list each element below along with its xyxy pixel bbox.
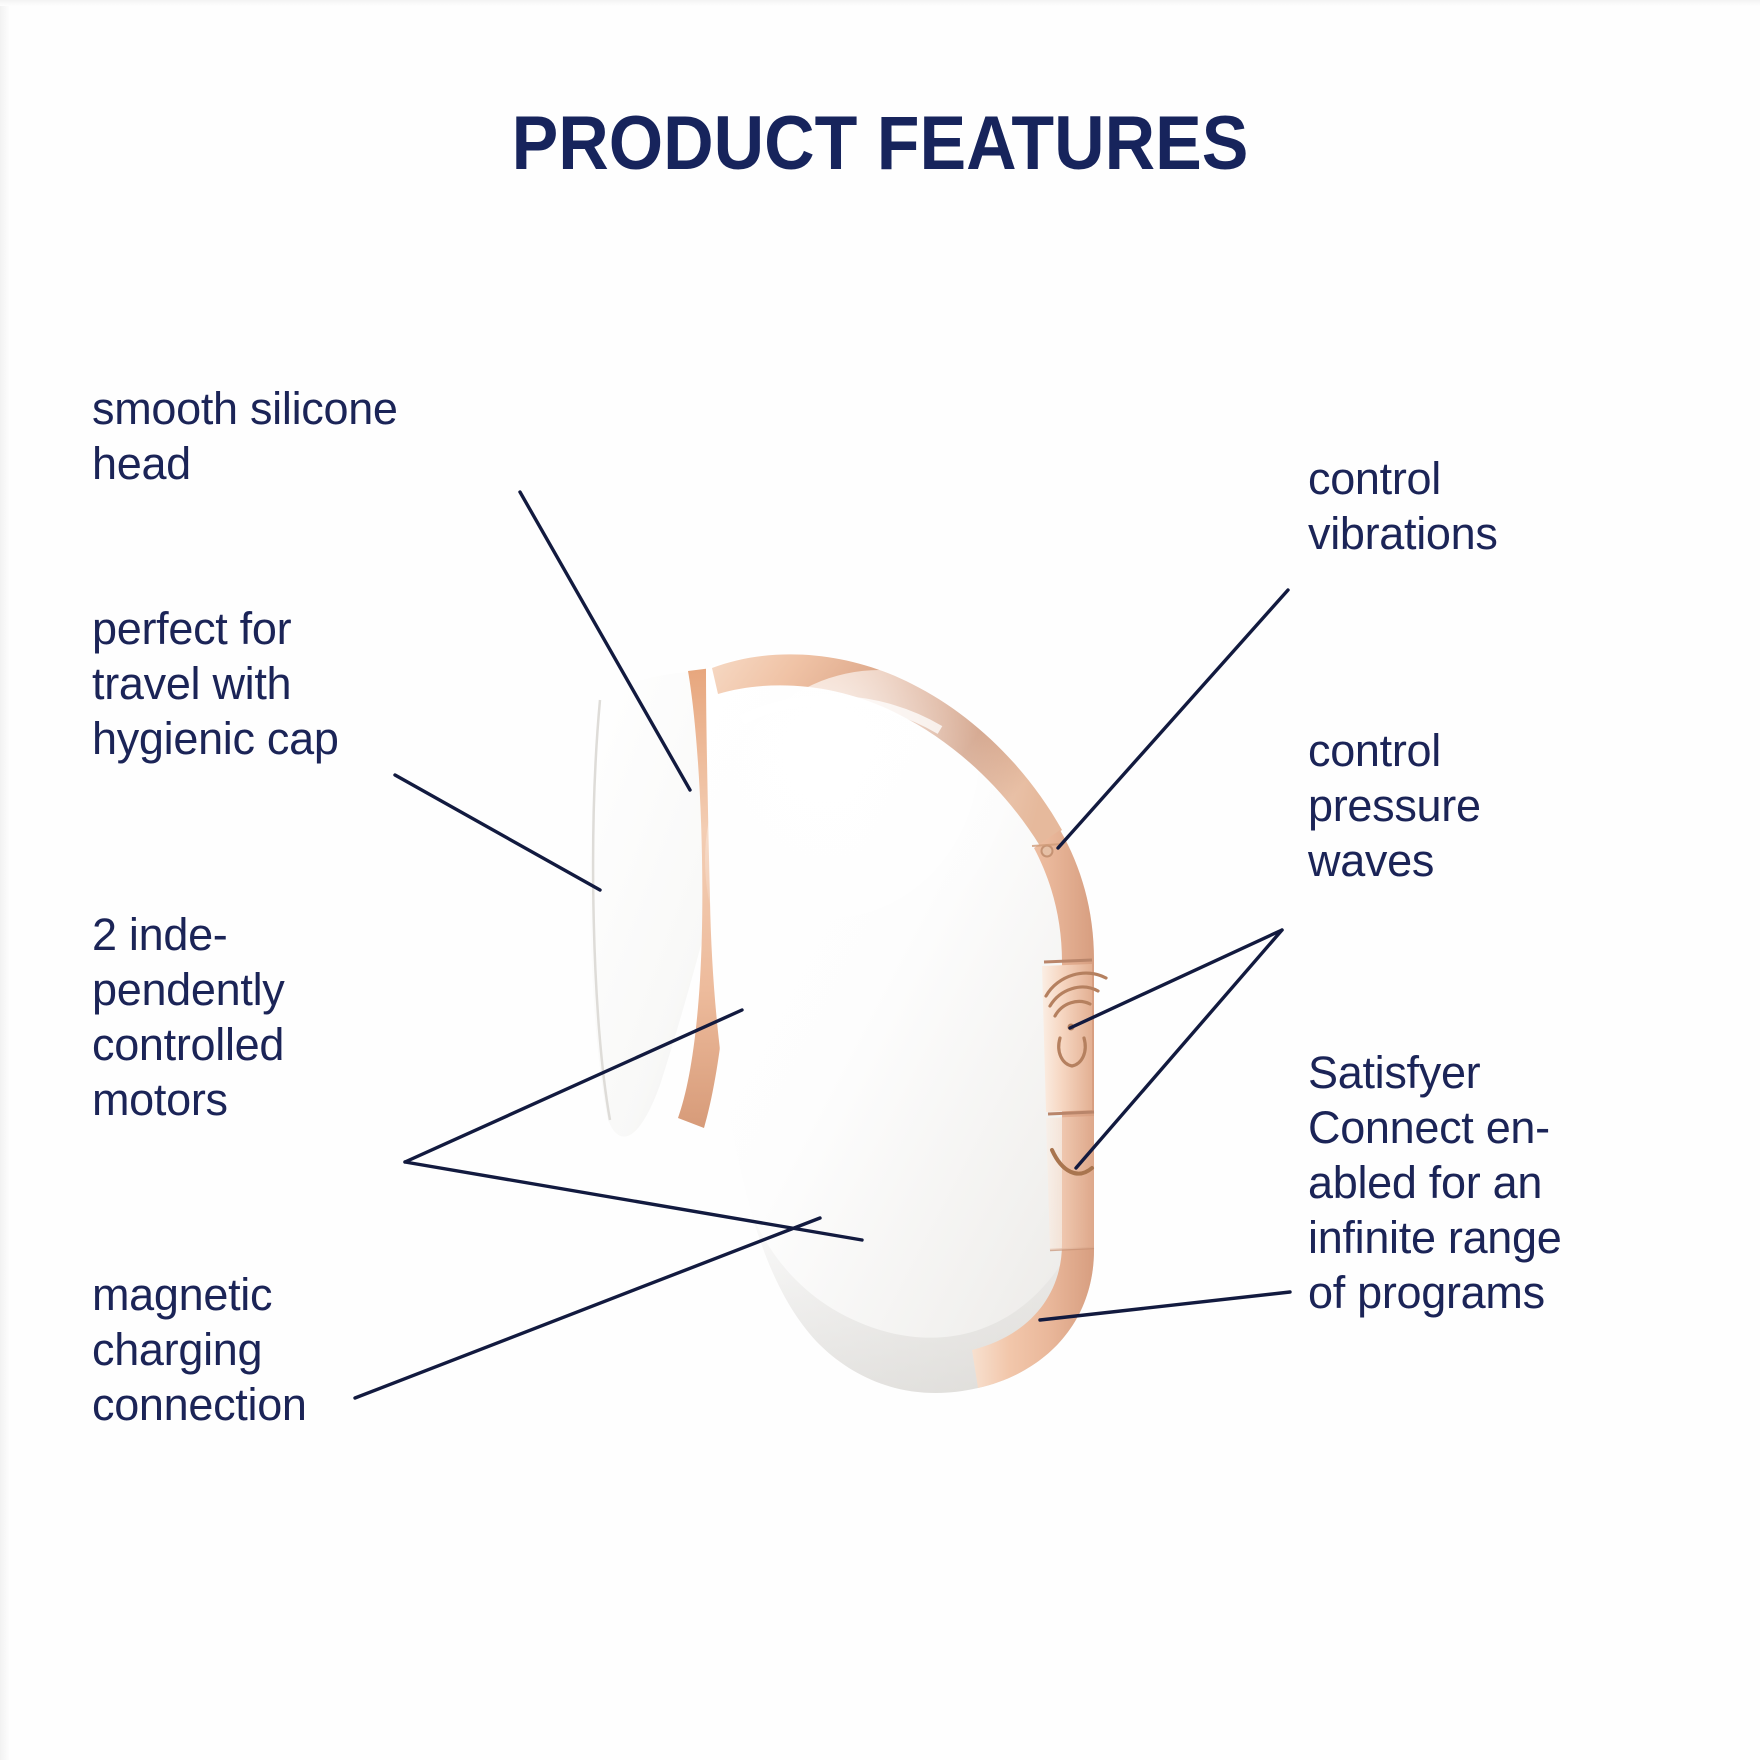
callout-control-pressure-waves: control pressure waves <box>1308 724 1668 889</box>
pressure-wave-button[interactable] <box>1042 964 1106 1112</box>
callout-satisfyer-connect: Satisfyer Connect en- abled for an infin… <box>1308 1046 1708 1320</box>
callout-travel-hygienic-cap: perfect for travel with hygienic cap <box>92 602 472 767</box>
callout-independent-motors: 2 inde- pendently controlled motors <box>92 908 402 1128</box>
callout-magnetic-charging: magnetic charging connection <box>92 1268 442 1433</box>
device-body <box>705 654 1094 1393</box>
callout-control-vibrations: control vibrations <box>1308 452 1688 562</box>
product-features-infographic: PRODUCT FEATURES <box>0 0 1760 1760</box>
callout-smooth-silicone-head: smooth silicone head <box>92 382 522 492</box>
intensity-down-button[interactable] <box>1046 1116 1094 1250</box>
dot-icon <box>1042 846 1053 857</box>
